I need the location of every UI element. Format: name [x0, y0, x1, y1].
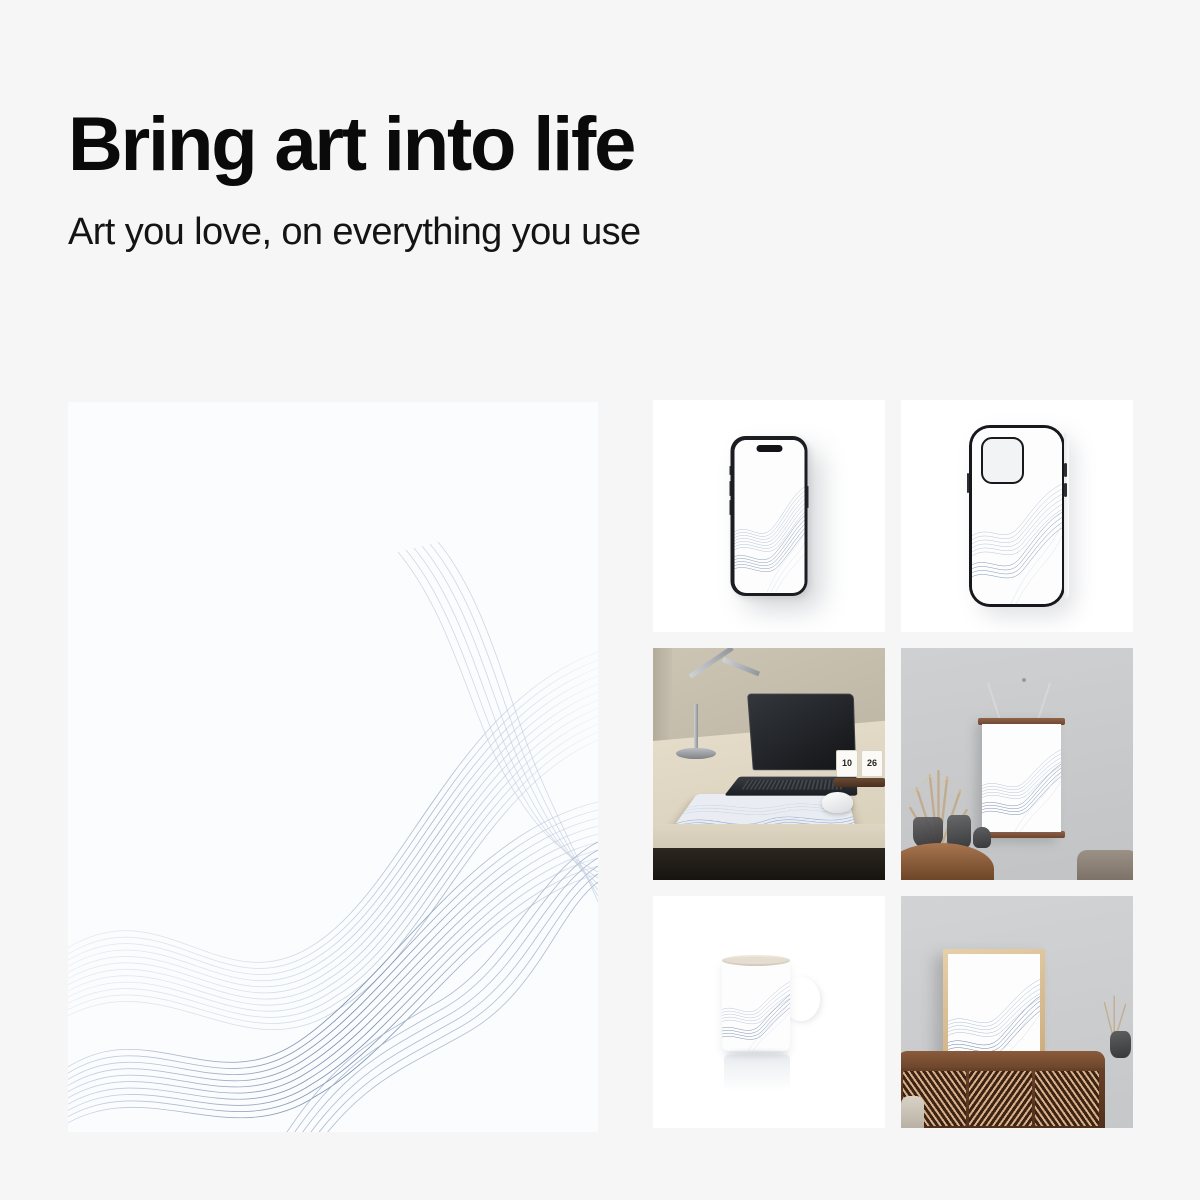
page-subtitle: Art you love, on everything you use — [68, 182, 1128, 254]
pampas-grass-right — [1098, 993, 1130, 1035]
phone-case — [969, 425, 1065, 607]
dark-vase — [1110, 1031, 1131, 1059]
phone-device — [731, 436, 808, 596]
sideboard-top — [901, 1051, 1105, 1068]
case-back-panel — [972, 428, 1062, 604]
poster-cord-left — [987, 683, 1000, 719]
wall-hook-icon — [1022, 678, 1026, 682]
desk-scene: 10 26 — [653, 648, 885, 880]
mockup-grid: 10 26 — [653, 400, 1133, 1135]
desk-mat-mockup[interactable]: 10 26 — [653, 648, 885, 880]
phone-volume-down-button — [729, 500, 731, 515]
hero-header: Bring art into life Art you love, on eve… — [68, 108, 1128, 254]
calendar-base — [834, 778, 884, 788]
poster-cord-right — [1038, 683, 1051, 719]
lamp-base — [676, 748, 715, 760]
sideboard-door-3 — [1035, 1071, 1098, 1126]
case-side-edge — [1064, 433, 1069, 599]
framed-print-mockup[interactable] — [901, 896, 1133, 1128]
camera-cutout-icon — [981, 437, 1024, 484]
hanging-poster-mockup[interactable] — [901, 648, 1133, 880]
phone-power-button — [807, 486, 809, 508]
phone-volume-up-button — [729, 481, 731, 496]
poster-artwork — [982, 724, 1061, 833]
phone-case-mockup[interactable] — [901, 400, 1133, 632]
mug-reflection — [724, 1055, 790, 1091]
mug-mockup[interactable] — [653, 896, 885, 1128]
lamp-pole — [694, 704, 699, 753]
framed-print-room-scene — [901, 896, 1133, 1128]
laptop-keyboard — [742, 779, 845, 789]
case-power-cutout-top — [1064, 463, 1066, 477]
ceramic-mug — [714, 951, 824, 1059]
ceramic-vase-small — [973, 827, 992, 848]
sofa — [1077, 850, 1133, 880]
calendar-day: 26 — [861, 750, 882, 777]
sideboard-doors — [903, 1071, 1099, 1126]
calendar-month: 10 — [836, 750, 857, 777]
hero-artwork-panel[interactable] — [68, 402, 598, 1132]
phone-wallpaper-mockup[interactable] — [653, 400, 885, 632]
poster-room-scene — [901, 648, 1133, 880]
phone-mute-button — [729, 466, 731, 475]
armchair — [901, 1096, 924, 1128]
hanging-poster — [982, 718, 1061, 839]
sideboard-door-2 — [969, 1071, 1032, 1126]
mug-handle-inner — [790, 984, 812, 1014]
product-gallery: 10 26 — [68, 402, 1133, 1134]
walnut-sideboard — [901, 1051, 1105, 1128]
round-side-table — [901, 843, 994, 880]
page-title: Bring art into life — [68, 108, 1128, 182]
case-power-cutout-bottom — [1064, 483, 1066, 497]
phone-screen — [734, 440, 804, 593]
mug-interior — [726, 957, 786, 964]
computer-mouse — [822, 792, 852, 813]
flip-calendar: 10 26 — [836, 750, 882, 787]
desk-under-shadow — [653, 848, 885, 880]
case-volume-cutout — [967, 473, 969, 493]
dynamic-island-icon — [756, 445, 782, 452]
artwork-image — [68, 402, 598, 1132]
promo-page: Bring art into life Art you love, on eve… — [0, 0, 1200, 1200]
mug-body — [722, 959, 790, 1051]
